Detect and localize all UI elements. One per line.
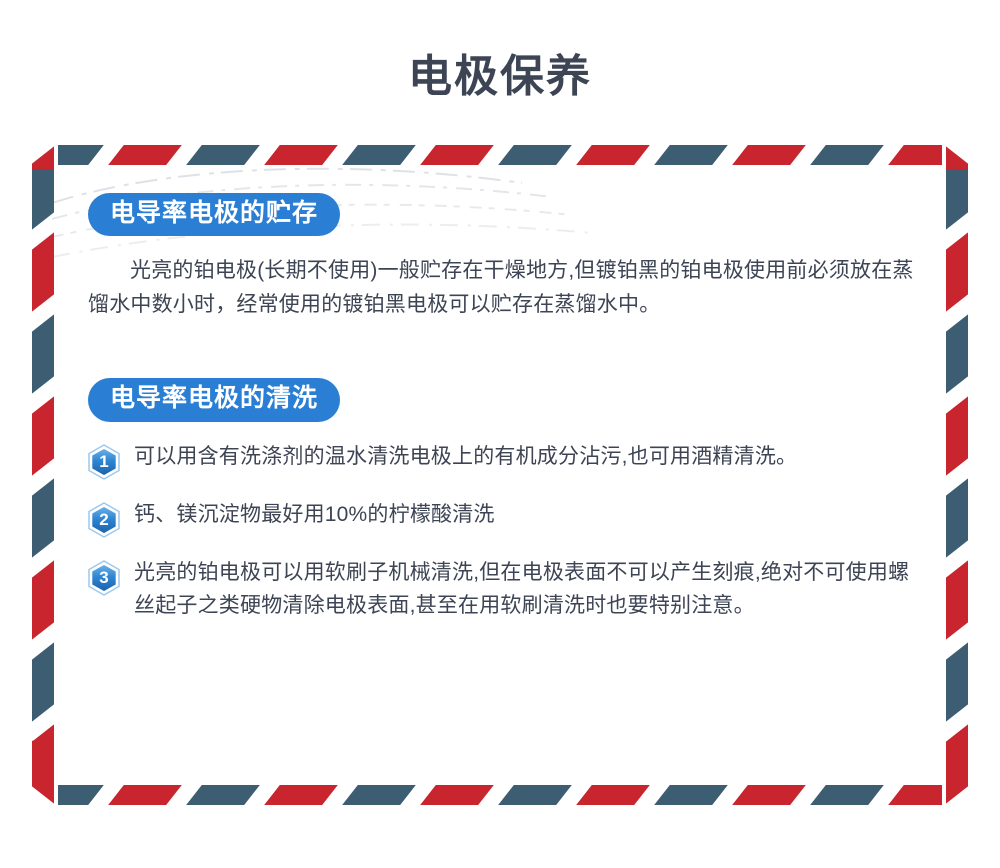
- section-storage: 电导率电极的贮存 光亮的铂电极(长期不使用)一般贮存在干燥地方,但镀铂黑的铂电极…: [88, 193, 922, 322]
- frame-stripe: [654, 145, 728, 165]
- list-item-text: 钙、镁沉淀物最好用10%的柠檬酸清洗: [134, 498, 922, 532]
- section-badge-storage: 电导率电极的贮存: [88, 193, 340, 236]
- frame-stripe: [946, 642, 968, 721]
- frame-stripe: [186, 785, 260, 805]
- hexagon-number-icon: 3: [88, 560, 120, 596]
- frame-stripe: [946, 560, 968, 639]
- airmail-card: 电导率电极的贮存 光亮的铂电极(长期不使用)一般贮存在干燥地方,但镀铂黑的铂电极…: [32, 145, 968, 805]
- hexagon-number-label: 1: [88, 444, 120, 480]
- frame-stripe: [732, 785, 806, 805]
- frame-stripe: [732, 145, 806, 165]
- frame-stripe: [32, 642, 54, 721]
- frame-stripe: [32, 396, 54, 475]
- frame-stripe: [342, 785, 416, 805]
- frame-stripe: [498, 785, 572, 805]
- list-item: 2 钙、镁沉淀物最好用10%的柠檬酸清洗: [88, 498, 922, 538]
- card-content: 电导率电极的贮存 光亮的铂电极(长期不使用)一般贮存在干燥地方,但镀铂黑的铂电极…: [88, 193, 922, 765]
- frame-band-top: [58, 145, 942, 165]
- list-item: 3 光亮的铂电极可以用软刷子机械清洗,但在电极表面不可以产生刻痕,绝对不可使用螺…: [88, 556, 922, 623]
- list-item-text: 光亮的铂电极可以用软刷子机械清洗,但在电极表面不可以产生刻痕,绝对不可使用螺丝起…: [134, 556, 922, 623]
- list-item: 1 可以用含有洗涤剂的温水清洗电极上的有机成分沾污,也可用酒精清洗。: [88, 440, 922, 480]
- hexagon-number-icon: 2: [88, 502, 120, 538]
- frame-stripe: [342, 145, 416, 165]
- frame-stripe: [58, 785, 104, 805]
- frame-stripe: [576, 785, 650, 805]
- frame-stripe: [654, 785, 728, 805]
- frame-stripe: [32, 232, 54, 311]
- frame-stripe: [946, 396, 968, 475]
- frame-stripe: [32, 314, 54, 393]
- hexagon-number-label: 2: [88, 502, 120, 538]
- frame-stripe: [32, 560, 54, 639]
- frame-stripe: [420, 145, 494, 165]
- storage-paragraph: 光亮的铂电极(长期不使用)一般贮存在干燥地方,但镀铂黑的铂电极使用前必须放在蒸馏…: [88, 254, 922, 322]
- frame-band-right: [946, 169, 968, 781]
- frame-stripe: [810, 145, 884, 165]
- frame-stripe: [946, 232, 968, 311]
- frame-stripe: [946, 314, 968, 393]
- frame-stripe: [108, 785, 182, 805]
- frame-stripe: [264, 785, 338, 805]
- frame-band-left: [32, 169, 54, 781]
- frame-stripe: [32, 169, 54, 230]
- frame-stripe: [186, 145, 260, 165]
- frame-stripe: [888, 145, 942, 165]
- frame-stripe: [888, 785, 942, 805]
- frame-stripe: [58, 145, 104, 165]
- cleaning-steps-list: 1 可以用含有洗涤剂的温水清洗电极上的有机成分沾污,也可用酒精清洗。: [88, 440, 922, 623]
- section-badge-cleaning: 电导率电极的清洗: [88, 378, 340, 421]
- frame-stripe: [420, 785, 494, 805]
- frame-stripe: [946, 724, 968, 781]
- section-cleaning: 电导率电极的清洗: [88, 378, 922, 622]
- frame-stripe: [108, 145, 182, 165]
- frame-stripe: [32, 478, 54, 557]
- hexagon-number-icon: 1: [88, 444, 120, 480]
- frame-stripe: [946, 169, 968, 230]
- list-item-text: 可以用含有洗涤剂的温水清洗电极上的有机成分沾污,也可用酒精清洗。: [134, 440, 922, 474]
- frame-stripe: [946, 478, 968, 557]
- frame-stripe: [498, 145, 572, 165]
- hexagon-number-label: 3: [88, 560, 120, 596]
- frame-stripe: [264, 145, 338, 165]
- frame-stripe: [576, 145, 650, 165]
- frame-band-bottom: [58, 785, 942, 805]
- page-title: 电极保养: [0, 52, 1000, 103]
- frame-stripe: [32, 724, 54, 781]
- frame-stripe: [810, 785, 884, 805]
